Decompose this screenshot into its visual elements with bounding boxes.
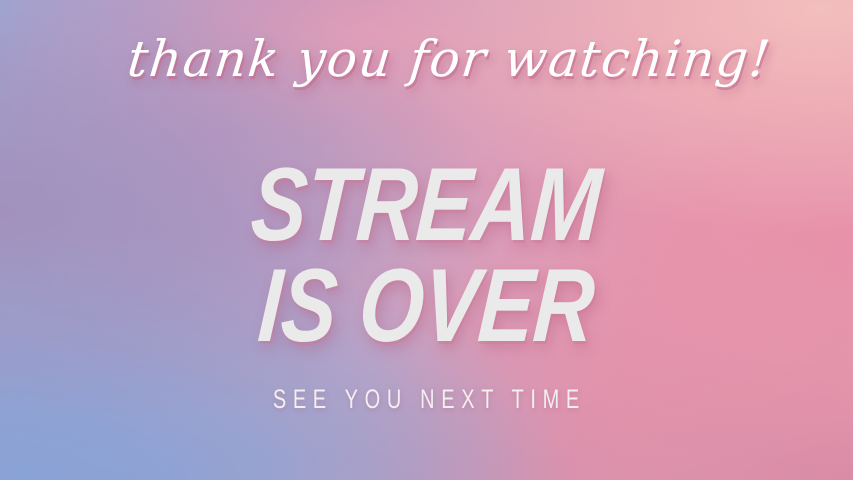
headline-line-1: STREAM	[0, 161, 853, 250]
headline-line-2: IS OVER	[0, 262, 853, 351]
text-overlay-layer: thank you for watching! STREAM IS OVER S…	[0, 0, 853, 480]
headline-line-1-text: STREAM	[249, 161, 604, 250]
headline-line-2-text: IS OVER	[256, 262, 597, 351]
see-you-next-time-subtitle: SEE YOU NEXT TIME	[0, 386, 853, 413]
subtitle-text: SEE YOU NEXT TIME	[267, 386, 587, 413]
thank-you-script-text: thank you for watching!	[20, 34, 853, 84]
stream-over-screen: thank you for watching! STREAM IS OVER S…	[0, 0, 853, 480]
